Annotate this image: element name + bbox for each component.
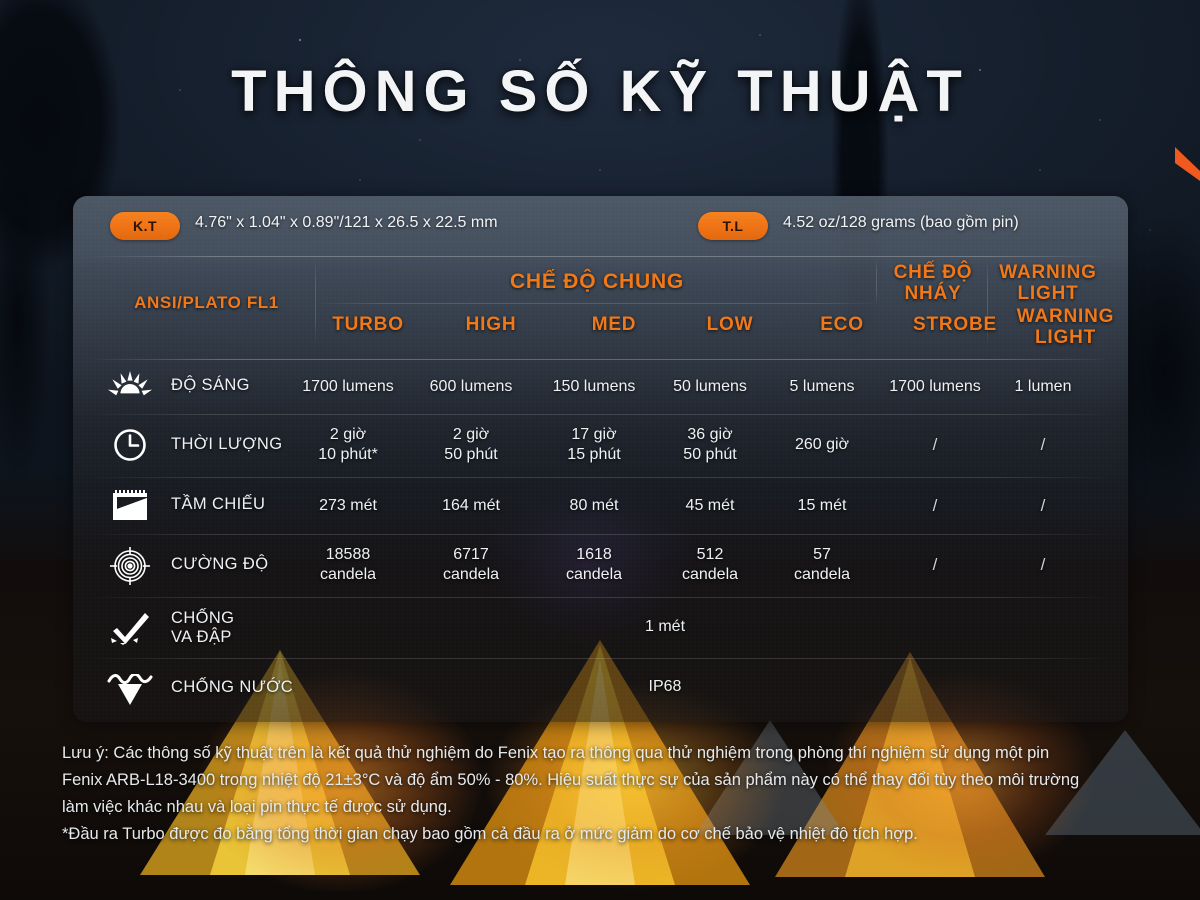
beam-distance-icon — [101, 489, 159, 523]
cell-beam-strobe: / — [933, 496, 938, 517]
cell-brightness-high: 600 lumens — [430, 377, 513, 397]
cell-intensity-warning: / — [1041, 555, 1046, 576]
cell-brightness-turbo: 1700 lumens — [302, 377, 394, 397]
footnote-line-2: Fenix ARB-L18-3400 trong nhiệt độ 21±3°C… — [62, 767, 1152, 794]
row-label-water: CHỐNG NƯỚC — [171, 678, 293, 697]
cell-brightness-warning: 1 lumen — [1015, 377, 1072, 397]
impact-resistance-icon — [101, 610, 159, 646]
cell-beam-low: 45 mét — [686, 496, 735, 516]
cell-intensity-low: 512 candela — [682, 545, 738, 584]
tree-silhouette-left-2 — [0, 120, 60, 520]
size-value: 4.76" x 1.04" x 0.89"/121 x 26.5 x 22.5 … — [195, 214, 498, 232]
cell-runtime-low: 36 giờ 50 phút — [683, 425, 736, 464]
runtime-clock-icon — [101, 427, 159, 463]
header-vsep-strobe — [876, 259, 877, 305]
cell-beam-high: 164 mét — [442, 496, 500, 516]
group-header-strobe: CHẾ ĐỘ NHÁY — [883, 263, 983, 304]
standard-label: ANSI/PLATO FL1 — [99, 293, 314, 313]
cell-intensity-high: 6717 candela — [443, 545, 499, 584]
table-row-beam-distance: TẦM CHIẾU 273 mét 164 mét 80 mét 45 mét … — [73, 478, 1128, 534]
cell-beam-med: 80 mét — [570, 496, 619, 516]
cell-beam-eco: 15 mét — [798, 496, 847, 516]
footnote-line-3: làm việc khác nhau và loại pin thực tế đ… — [62, 794, 1152, 821]
table-row-intensity: CƯỜNG ĐỘ 18588 candela 6717 candela 1618… — [73, 535, 1128, 597]
cell-intensity-turbo: 18588 candela — [320, 545, 376, 584]
footnote-line-1: Lưu ý: Các thông số kỹ thuật trên là kết… — [62, 740, 1152, 767]
cell-beam-turbo: 273 mét — [319, 496, 377, 516]
specifications-panel: K.T 4.76" x 1.04" x 0.89"/121 x 26.5 x 2… — [73, 196, 1128, 722]
water-resistance-icon — [101, 673, 159, 707]
column-header-warning-light: WARNING LIGHT — [988, 307, 1128, 348]
size-badge: K.T — [110, 212, 180, 240]
row-label-brightness: ĐỘ SÁNG — [171, 376, 250, 395]
cell-brightness-eco: 5 lumens — [790, 377, 855, 397]
row-label-beam-distance: TẦM CHIẾU — [171, 495, 265, 514]
cell-brightness-med: 150 lumens — [553, 377, 636, 397]
table-row-water: CHỐNG NƯỚC IP68 — [73, 659, 1128, 719]
cell-impact-value: 1 mét — [645, 618, 685, 636]
cell-runtime-med: 17 giờ 15 phút — [567, 425, 620, 464]
weight-badge: T.L — [698, 212, 768, 240]
dimensions-weight-bar: K.T 4.76" x 1.04" x 0.89"/121 x 26.5 x 2… — [73, 196, 1128, 256]
cell-runtime-eco: 260 giờ — [795, 435, 849, 455]
table-row-brightness: ĐỘ SÁNG 1700 lumens 600 lumens 150 lumen… — [73, 360, 1128, 414]
cell-brightness-strobe: 1700 lumens — [889, 377, 981, 397]
cell-runtime-high: 2 giờ 50 phút — [444, 425, 497, 464]
brightness-sun-icon — [101, 370, 159, 404]
row-label-impact: CHỐNG VA ĐẬP — [171, 609, 234, 647]
cell-runtime-warning: / — [1041, 435, 1046, 456]
group-header-warning: WARNING LIGHT — [993, 263, 1103, 304]
title-block: THÔNG SỐ KỸ THUẬT — [0, 58, 1200, 141]
cell-intensity-med: 1618 candela — [566, 545, 622, 584]
row-label-intensity: CƯỜNG ĐỘ — [171, 555, 268, 574]
group-header-general: CHẾ ĐỘ CHUNG — [333, 271, 861, 294]
table-row-runtime: THỜI LƯỢNG 2 giờ 10 phút* 2 giờ 50 phút … — [73, 415, 1128, 477]
page-title: THÔNG SỐ KỸ THUẬT — [0, 58, 1200, 125]
cell-water-value: IP68 — [649, 678, 682, 696]
table-header: ANSI/PLATO FL1 CHẾ ĐỘ CHUNG CHẾ ĐỘ NHÁY … — [73, 257, 1128, 347]
footnote-line-4: *Đầu ra Turbo được đo bằng tổng thời gia… — [62, 821, 1152, 848]
divider-group — [316, 303, 876, 304]
row-label-runtime: THỜI LƯỢNG — [171, 435, 282, 454]
cell-intensity-strobe: / — [933, 555, 938, 576]
cell-brightness-low: 50 lumens — [673, 377, 747, 397]
cell-runtime-strobe: / — [933, 435, 938, 456]
table-row-impact: CHỐNG VA ĐẬP 1 mét — [73, 598, 1128, 658]
peak-intensity-target-icon — [101, 547, 159, 585]
cell-runtime-turbo: 2 giờ 10 phút* — [318, 425, 378, 464]
cell-beam-warning: / — [1041, 496, 1046, 517]
weight-value: 4.52 oz/128 grams (bao gồm pin) — [783, 214, 1019, 232]
cell-intensity-eco: 57 candela — [794, 545, 850, 584]
footnote-block: Lưu ý: Các thông số kỹ thuật trên là kết… — [62, 740, 1152, 848]
